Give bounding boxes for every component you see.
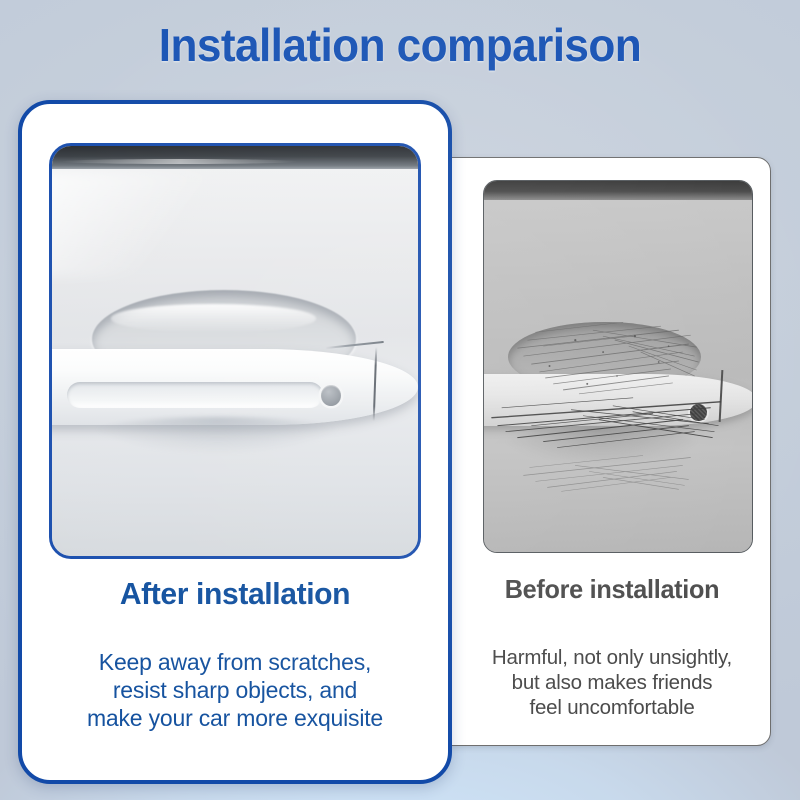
before-body-line: Harmful, not only unsightly, <box>455 645 769 670</box>
before-installation-photo <box>483 180 753 553</box>
installation-comparison-poster: Installation comparison <box>0 0 800 800</box>
after-window-trim <box>49 146 421 169</box>
before-installation-caption: Before installation <box>469 574 754 605</box>
after-lower-shadow <box>89 417 345 454</box>
after-photo-surface <box>52 146 418 556</box>
after-body-line: Keep away from scratches, <box>32 648 438 676</box>
before-body-line: feel uncomfortable <box>455 695 769 720</box>
before-window-trim <box>483 181 753 200</box>
before-handle-sensor-icon <box>690 404 707 421</box>
after-installation-photo <box>49 143 421 559</box>
after-recess-highlight <box>111 304 316 333</box>
before-body-line: but also makes friends <box>455 670 769 695</box>
after-body-gloss <box>49 171 272 278</box>
before-installation-card: Before installation Harmful, not only un… <box>436 157 771 746</box>
after-body-line: resist sharp objects, and <box>32 676 438 704</box>
before-handle-bar <box>483 374 753 426</box>
before-photo-surface <box>484 181 752 552</box>
before-lower-shadow <box>505 426 698 463</box>
after-installation-body: Keep away from scratches, resist sharp o… <box>32 648 438 732</box>
after-installation-caption: After installation <box>43 576 427 612</box>
page-title: Installation comparison <box>16 18 784 72</box>
after-body-line: make your car more exquisite <box>32 704 438 732</box>
before-installation-body: Harmful, not only unsightly, but also ma… <box>455 645 769 720</box>
after-installation-card: After installation Keep away from scratc… <box>18 100 452 784</box>
after-handle-groove <box>67 382 323 409</box>
